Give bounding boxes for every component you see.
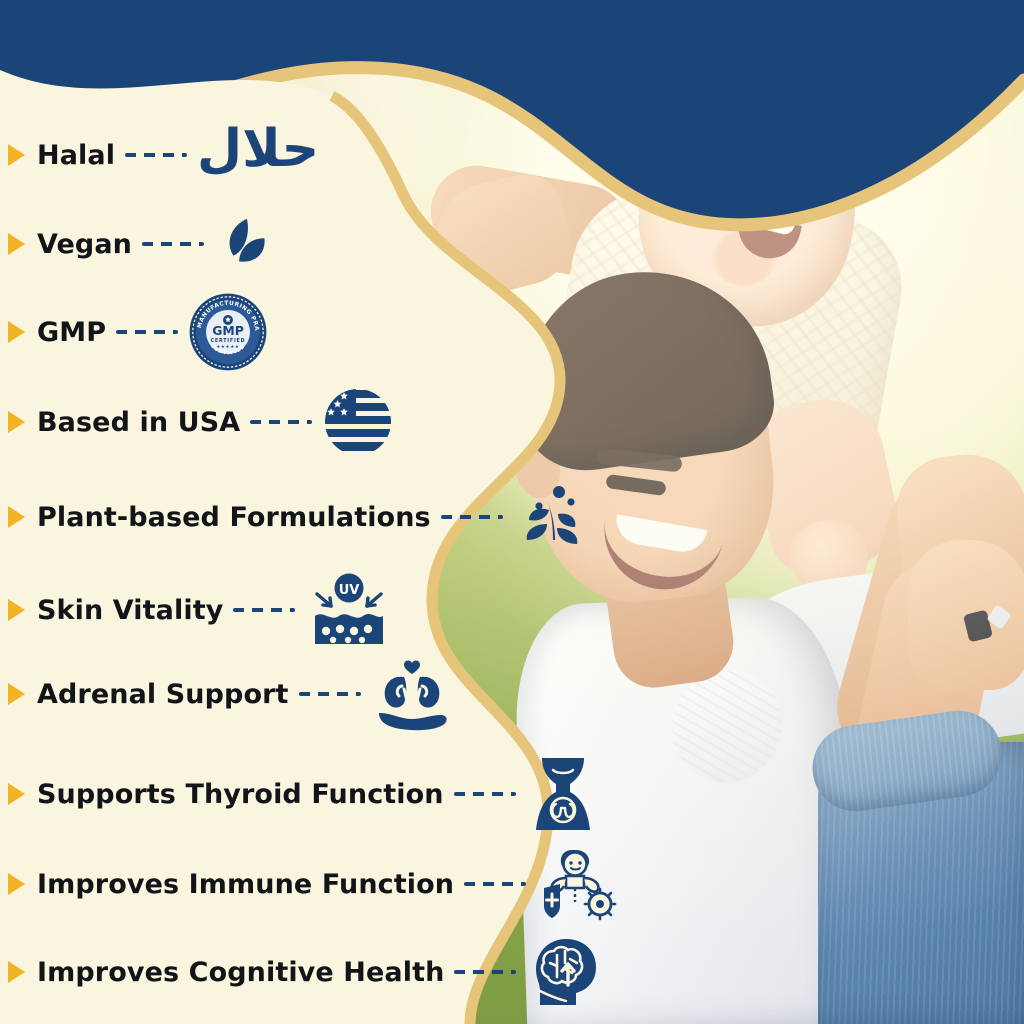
- bullet-arrow-icon: [8, 873, 25, 895]
- feature-label: Vegan: [37, 229, 132, 260]
- halal-arabic-text: حلال: [197, 123, 319, 175]
- feature-row-plant-based[interactable]: Plant-based Formulations: [8, 485, 587, 549]
- dashed-connector: [125, 153, 187, 157]
- bullet-arrow-icon: [8, 506, 25, 528]
- dashed-connector: [250, 420, 312, 424]
- dashed-connector: [142, 242, 204, 246]
- dashed-connector: [454, 970, 516, 974]
- infographic-banner: Halal حلال Vegan GMP: [0, 0, 1024, 1024]
- dashed-connector: [299, 692, 361, 696]
- feature-label: Plant-based Formulations: [37, 502, 431, 533]
- gmp-center-text: GMP: [212, 323, 244, 338]
- gmp-stars: ★★★★★: [216, 344, 239, 350]
- features-list: Halal حلال Vegan GMP: [0, 0, 620, 1024]
- feature-row-immune[interactable]: Improves Immune Function: [8, 852, 622, 916]
- feature-row-vegan[interactable]: Vegan: [8, 212, 276, 276]
- virus-icon: [585, 889, 615, 919]
- feature-row-based-in-usa[interactable]: Based in USA: [8, 390, 394, 454]
- feature-label: Adrenal Support: [37, 679, 289, 710]
- heart-icon: [404, 661, 420, 674]
- feature-label: Skin Vitality: [37, 595, 223, 626]
- plant-sprout-icon: [513, 480, 587, 554]
- dashed-connector: [454, 792, 516, 796]
- dashed-connector: [464, 882, 526, 886]
- dashed-connector: [116, 330, 178, 334]
- uv-label: UV: [339, 583, 360, 598]
- feature-label: Improves Cognitive Health: [37, 957, 444, 988]
- immune-shield-person-icon: [536, 844, 622, 924]
- feature-row-gmp[interactable]: GMP GOOD MANUFACTURING PRACTICE: [8, 300, 268, 364]
- gmp-certified-seal-icon: GOOD MANUFACTURING PRACTICE CERTIFIED GM…: [188, 292, 268, 372]
- uv-skin-protection-icon: UV: [305, 572, 393, 648]
- bullet-arrow-icon: [8, 961, 25, 983]
- bullet-arrow-icon: [8, 321, 25, 343]
- bullet-arrow-icon: [8, 783, 25, 805]
- feature-row-skin-vitality[interactable]: Skin Vitality UV: [8, 578, 393, 642]
- usa-flag-circle-icon: [322, 386, 394, 458]
- bullet-arrow-icon: [8, 144, 25, 166]
- feature-label: Improves Immune Function: [37, 869, 454, 900]
- gmp-center-sub: CERTIFIED: [211, 338, 246, 344]
- feature-row-halal[interactable]: Halal حلال: [8, 123, 319, 187]
- thyroid-torso-icon: [526, 754, 600, 834]
- open-hand-icon: [379, 713, 447, 730]
- dashed-connector: [441, 515, 503, 519]
- feature-label: GMP: [37, 317, 106, 348]
- bullet-arrow-icon: [8, 233, 25, 255]
- feature-row-cognitive[interactable]: Improves Cognitive Health: [8, 940, 604, 1004]
- feature-label: Halal: [37, 140, 115, 171]
- feature-row-thyroid[interactable]: Supports Thyroid Function: [8, 762, 600, 826]
- bullet-arrow-icon: [8, 599, 25, 621]
- skin-layer: [315, 614, 383, 644]
- bullet-arrow-icon: [8, 411, 25, 433]
- bullet-arrow-icon: [8, 683, 25, 705]
- kidneys-in-hand-icon: [371, 655, 453, 733]
- feature-label: Based in USA: [37, 407, 240, 438]
- feature-label: Supports Thyroid Function: [37, 779, 444, 810]
- brain-head-arrow-icon: [526, 933, 604, 1011]
- leaf-pair-icon: [214, 213, 276, 275]
- halal-arabic-calligraphy-icon: حلال: [197, 129, 319, 181]
- dashed-connector: [233, 608, 295, 612]
- shield-plus-icon: [544, 884, 560, 918]
- feature-row-adrenal-support[interactable]: Adrenal Support: [8, 662, 453, 726]
